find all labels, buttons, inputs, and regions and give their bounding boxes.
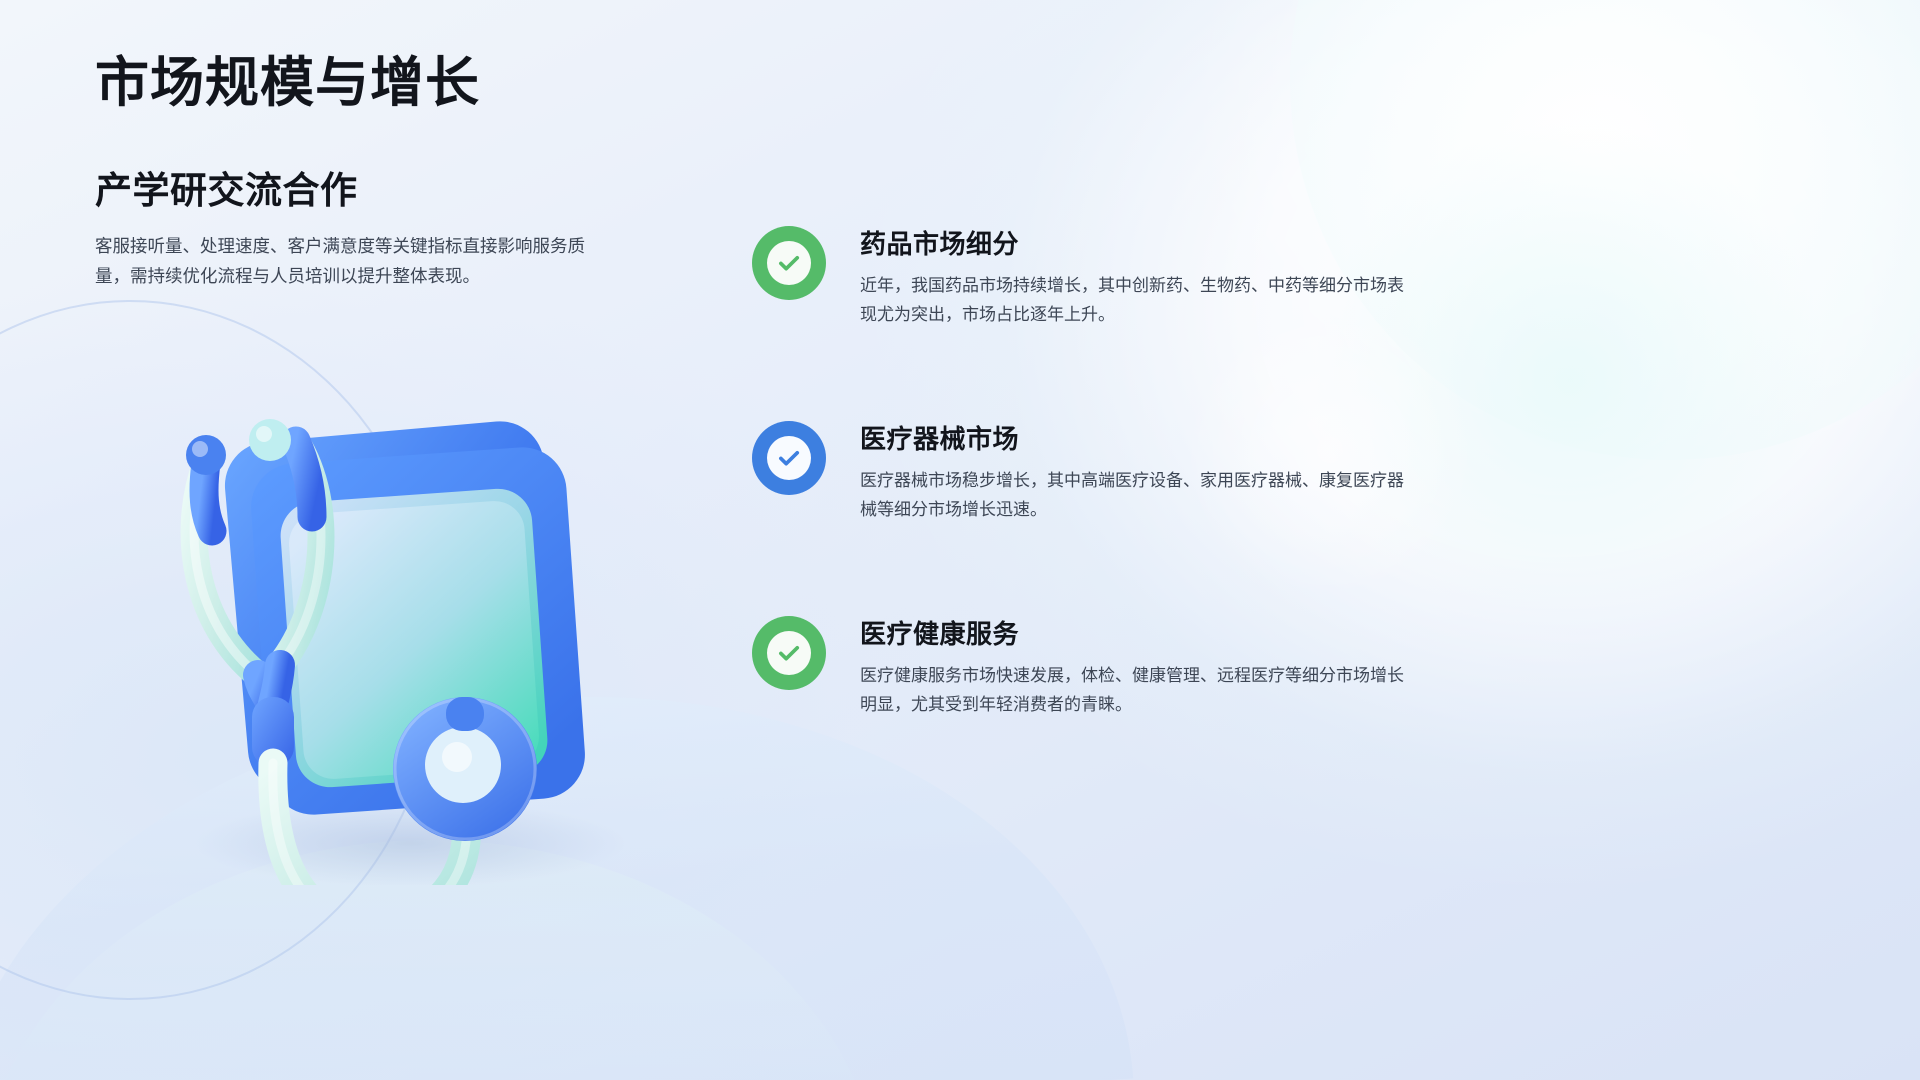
feature-title: 医疗健康服务: [860, 614, 1405, 651]
feature-item[interactable]: 药品市场细分 近年，我国药品市场持续增长，其中创新药、生物药、中药等细分市场表现…: [752, 222, 1452, 329]
feature-title: 药品市场细分: [860, 224, 1405, 261]
section-title: 产学研交流合作: [95, 160, 715, 214]
feature-description: 近年，我国药品市场持续增长，其中创新药、生物药、中药等细分市场表现尤为突出，市场…: [860, 272, 1405, 329]
feature-item[interactable]: 医疗器械市场 医疗器械市场稳步增长，其中高端医疗设备、家用医疗器械、康复医疗器械…: [752, 417, 1452, 524]
feature-title: 医疗器械市场: [860, 419, 1405, 456]
check-circle-icon: [752, 226, 826, 300]
presentation-slide: 市场规模与增长 产学研交流合作 客服接听量、处理速度、客户满意度等关键指标直接影…: [0, 0, 1920, 1080]
check-circle-icon: [752, 616, 826, 690]
feature-list: 药品市场细分 近年，我国药品市场持续增长，其中创新药、生物药、中药等细分市场表现…: [752, 222, 1452, 719]
feature-description: 医疗器械市场稳步增长，其中高端医疗设备、家用医疗器械、康复医疗器械等细分市场增长…: [860, 467, 1405, 524]
section-body-text: 客服接听量、处理速度、客户满意度等关键指标直接影响服务质量，需持续优化流程与人员…: [95, 231, 605, 291]
check-circle-icon: [752, 421, 826, 495]
feature-description: 医疗健康服务市场快速发展，体检、健康管理、远程医疗等细分市场增长明显，尤其受到年…: [860, 662, 1405, 719]
page-title: 市场规模与增长: [95, 52, 715, 114]
left-column: 市场规模与增长 产学研交流合作 客服接听量、处理速度、客户满意度等关键指标直接影…: [95, 52, 715, 291]
stethoscope-clipboard-3d-illustration: [110, 345, 670, 885]
feature-item[interactable]: 医疗健康服务 医疗健康服务市场快速发展，体检、健康管理、远程医疗等细分市场增长明…: [752, 612, 1452, 719]
